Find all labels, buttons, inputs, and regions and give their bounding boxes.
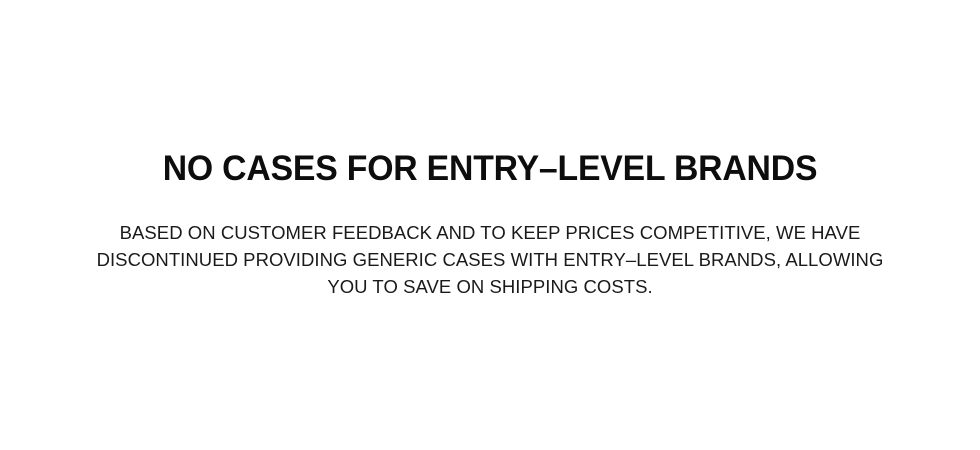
page-title: NO CASES FOR ENTRY–LEVEL BRANDS <box>56 150 925 188</box>
notice-block: NO CASES FOR ENTRY–LEVEL BRANDS BASED ON… <box>0 0 980 450</box>
notice-body-text: BASED ON CUSTOMER FEEDBACK AND TO KEEP P… <box>90 219 890 300</box>
